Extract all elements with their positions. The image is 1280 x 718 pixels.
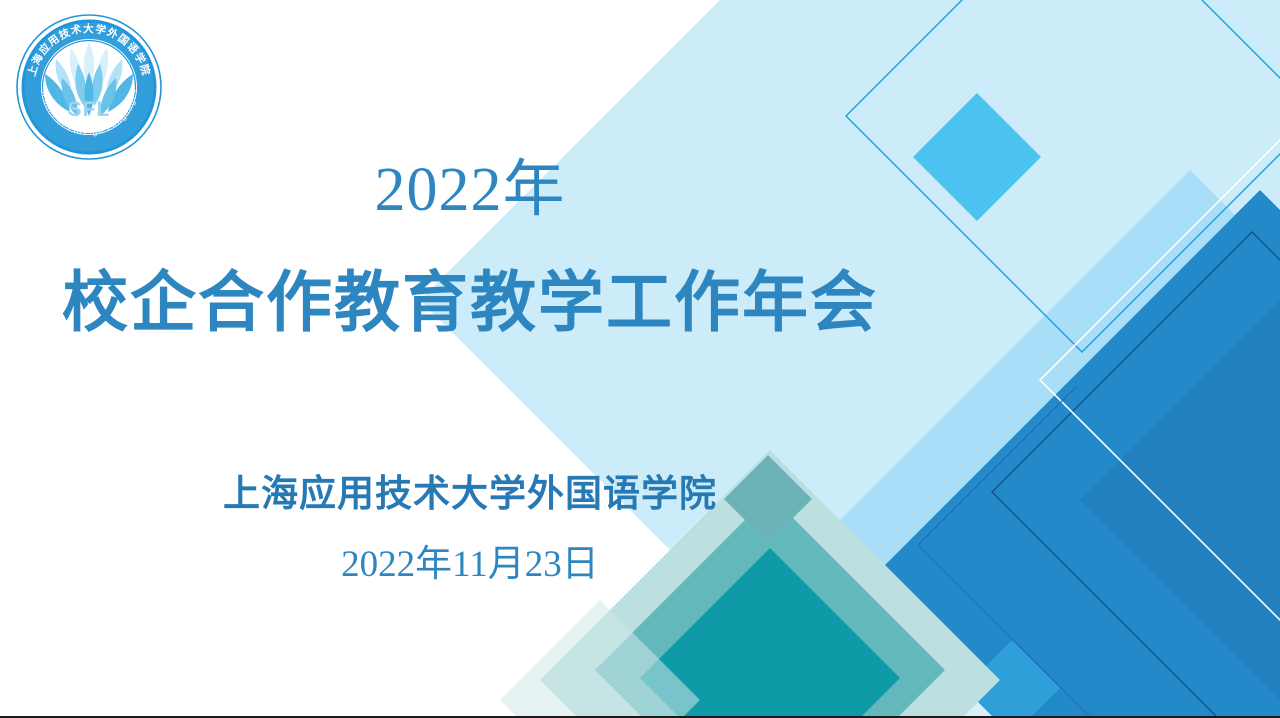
deep-blue-diamond [880,190,1280,718]
organization-name: 上海应用技术大学外国语学院 [0,474,940,517]
page-title: 校企合作教育教学工作年会 [0,268,940,341]
presentation-slide: SFL 上海应用技术大学外国语学院 School of Foreign Lang… [0,0,1280,718]
small-blue-diamond-bottom [964,640,1060,718]
darker-blue-accent [1080,300,1280,700]
diagonal-accent-line [918,387,1280,718]
date-text: 2022年11月23日 [0,544,940,587]
slide-text-block: 2022年 校企合作教育教学工作年会 上海应用技术大学外国语学院 2022年11… [0,0,940,718]
outlined-diamond-lower-dark [992,232,1280,718]
year-heading: 2022年 [0,158,940,223]
mid-blue-chevron [905,248,1280,718]
outlined-diamond-white [1040,120,1280,640]
